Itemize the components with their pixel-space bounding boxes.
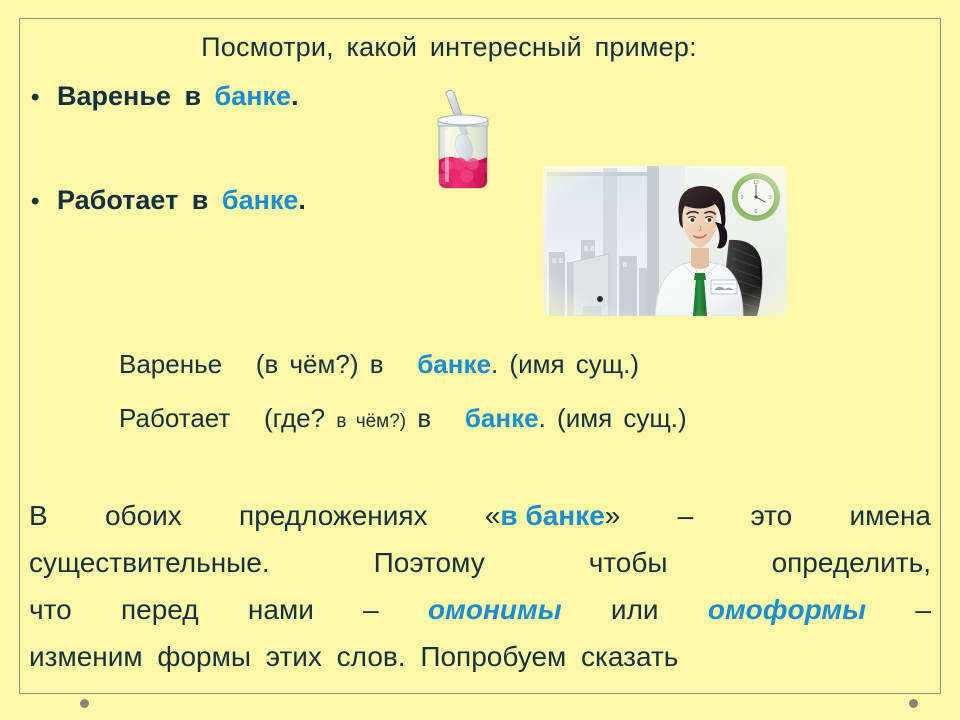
jam-jar-image: [415, 84, 511, 194]
analysis-2-question: (где?: [264, 403, 325, 433]
para-l2-w3: чтобы: [589, 539, 668, 586]
paragraph-line-4: изменим формы этих слов. Попробуем сказа…: [29, 633, 931, 680]
analysis-1-keyword: банке: [417, 349, 491, 379]
decorative-dot-right: [909, 699, 918, 708]
para-l3-dash: –: [363, 586, 379, 633]
bullet-item-2: • Работает в банке.: [31, 185, 306, 216]
paragraph-line-3: что перед нами – омонимы или омоформы –: [29, 586, 931, 633]
para-l3-w5: или: [611, 586, 659, 633]
para-l3-dash2: –: [915, 586, 931, 633]
term-omoformy: омоформы: [708, 586, 866, 633]
paragraph-line-2: существительные. Поэтому чтобы определит…: [29, 539, 931, 586]
para-l2-w1: существительные.: [29, 539, 270, 586]
analysis-1-preposition: в: [370, 349, 384, 379]
analysis-line-2: Работает (где? в чём?) в банке. (имя сущ…: [119, 403, 687, 434]
para-l3-w2: перед: [121, 586, 199, 633]
para-l3-w3: нами: [248, 586, 314, 633]
explanation-paragraph: В обоих предложениях «в банке» – это име…: [29, 492, 931, 680]
slide-content: Посмотри, какой интересный пример: • Вар…: [19, 18, 941, 694]
para-l2-w4: определить,: [772, 539, 931, 586]
analysis-1-pos: (имя сущ.): [509, 349, 639, 379]
slide-canvas: Посмотри, какой интересный пример: • Вар…: [0, 0, 960, 720]
analysis-1-period: .: [491, 349, 498, 379]
bullet-1-suffix: .: [291, 81, 299, 111]
image-vignette: [543, 166, 787, 316]
bullet-2-suffix: .: [298, 185, 306, 215]
analysis-2-subject: Работает: [119, 403, 230, 433]
bullet-item-2-text: Работает в банке.: [57, 185, 306, 216]
analysis-2-keyword: банке: [465, 403, 539, 433]
term-omonimy: омонимы: [428, 586, 562, 633]
para-l3-w1: что: [29, 586, 72, 633]
para-l1-w1: В: [29, 492, 48, 539]
para-l1-w2: обоих: [105, 492, 182, 539]
analysis-2-pos: (имя сущ.): [557, 403, 687, 433]
bullet-1-prefix: Варенье в: [57, 81, 215, 111]
bullet-dot-icon: •: [31, 86, 57, 110]
paragraph-line-1: В обоих предложениях «в банке» – это име…: [29, 492, 931, 539]
para-l1-w6: имена: [849, 492, 931, 539]
page-title: Посмотри, какой интересный пример:: [19, 32, 879, 63]
bullet-2-prefix: Работает в: [57, 185, 222, 215]
decorative-dot-left: [80, 699, 89, 708]
quote-close: »: [605, 500, 621, 531]
analysis-1-subject: Варенье: [119, 349, 222, 379]
para-l1-w3: предложениях: [239, 492, 428, 539]
quote-open: «: [485, 500, 501, 531]
para-l1-quoted-term: «в банке»: [485, 492, 621, 539]
para-l1-w5: это: [750, 492, 792, 539]
para-l2-w2: Поэтому: [374, 539, 485, 586]
bullet-dot-icon: •: [31, 190, 57, 214]
bank-clerk-image: 12 3 6 9: [543, 166, 787, 316]
analysis-1-question: (в чём?): [256, 349, 359, 379]
bullet-1-keyword: банке: [215, 81, 292, 111]
quoted-keyword: в банке: [500, 500, 604, 531]
analysis-2-question-small: в чём?): [336, 411, 406, 432]
analysis-2-preposition: в: [417, 403, 431, 433]
analysis-line-1: Варенье (в чём?) в банке. (имя сущ.): [119, 349, 639, 380]
analysis-2-period: .: [539, 403, 546, 433]
para-l1-w4: –: [678, 492, 694, 539]
bullet-item-1: • Варенье в банке.: [31, 81, 299, 112]
bullet-2-keyword: банке: [222, 185, 299, 215]
bullet-item-1-text: Варенье в банке.: [57, 81, 299, 112]
